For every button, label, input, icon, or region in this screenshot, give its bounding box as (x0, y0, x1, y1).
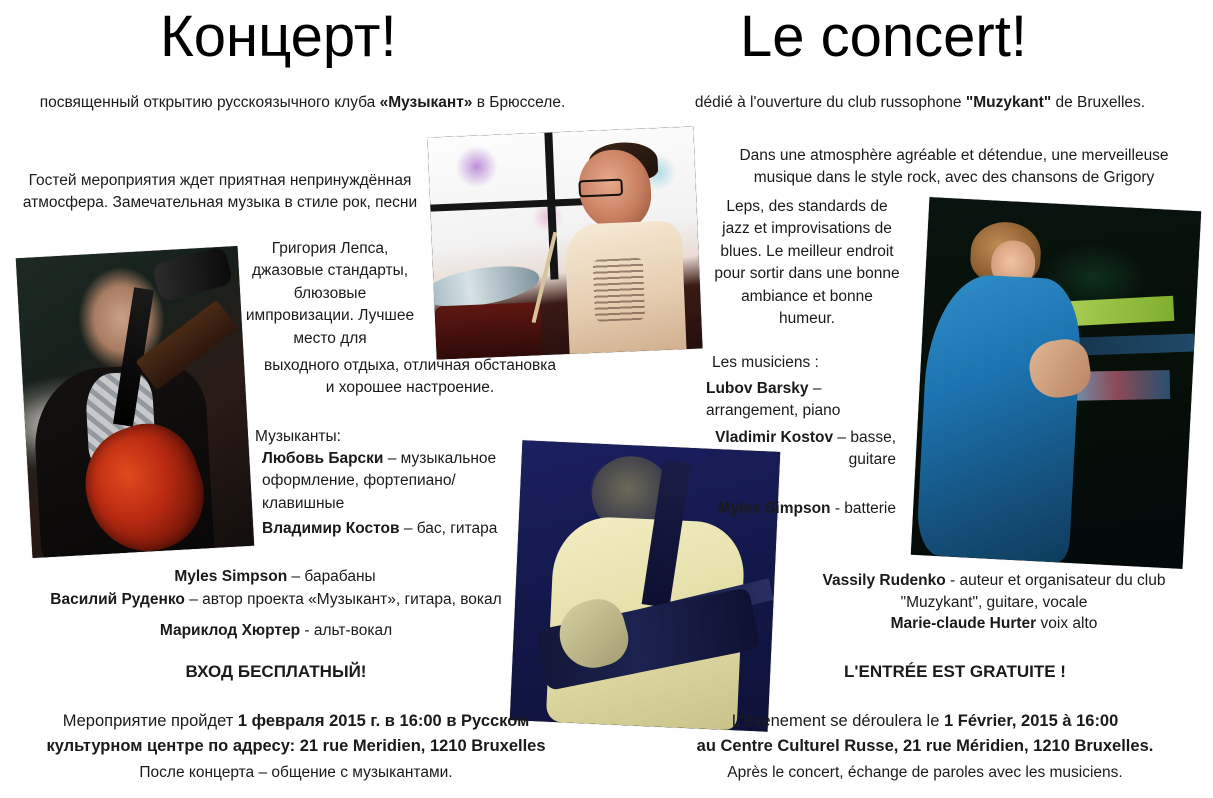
musician-row-ru-2: Владимир Костов – бас, гитара (262, 518, 514, 540)
musician-role-ru-3: – барабаны (287, 568, 375, 585)
free-entry-russian: ВХОД БЕСПЛАТНЫЙ! (6, 660, 546, 685)
free-entry-french: L'ENTRÉE EST GRATUITE ! (700, 660, 1210, 685)
narrow-french: Leps, des standards de jazz et improvisa… (712, 196, 902, 331)
musician-row-fr-2: Vladimir Kostov – basse, guitare (706, 427, 896, 472)
subtitle-russian-plain-1: посвященный открытию русскоязычного клуб… (40, 94, 380, 111)
musician-role-ru-2: – бас, гитара (400, 520, 498, 537)
intro-french: Dans une atmosphère agréable et détendue… (710, 145, 1198, 190)
wide-russian: выходного отдыха, отличная обстановка и … (260, 355, 560, 400)
intro-russian: Гостей мероприятия ждет приятная неприну… (10, 170, 430, 215)
musician-row-ru-4: Василий Руденко – автор проекта «Музыкан… (6, 589, 546, 611)
subtitle-french: dédié à l'ouverture du club russophone "… (640, 92, 1200, 114)
musician-name-fr-4: Vassily Rudenko (823, 572, 946, 589)
musician-row-ru-5: Мариклод Хюртер - альт-вокал (6, 620, 546, 642)
event-line1-fr-plain: L'événement se déroulera le (732, 712, 944, 730)
musician-row-fr-1: Lubov Barsky – arrangement, piano (706, 378, 896, 423)
musicians-heading-russian: Музыканты: (255, 426, 515, 448)
event-line2-ru-bold: культурном центре по адресу: 21 rue Meri… (46, 737, 545, 755)
musician-row-ru-3: Myles Simpson – барабаны (60, 566, 490, 588)
event-line2-russian: культурном центре по адресу: 21 rue Meri… (6, 735, 586, 759)
musician-name-fr-2: Vladimir Kostov (715, 429, 833, 446)
concert-poster: Концерт! посвященный открытию русскоязыч… (0, 0, 1213, 798)
musician-name-ru-1: Любовь Барски (262, 450, 383, 467)
musician-row-ru-1: Любовь Барски – музыкальное оформление, … (262, 448, 514, 515)
musician-role-fr-2: – basse, guitare (833, 429, 896, 468)
musician-name-ru-4: Василий Руденко (50, 591, 185, 608)
musician-name-fr-3: Myles Simpson (718, 500, 831, 517)
musician-row-fr-5: Marie-claude Hurter voix alto (784, 613, 1204, 635)
event-line2-fr-bold: au Centre Culturel Russe, 21 rue Méridie… (697, 737, 1154, 755)
after-concert-french: Après le concert, échange de paroles ave… (640, 762, 1210, 784)
musician-role-ru-5: - альт-вокал (300, 622, 392, 639)
photo-pianist (911, 197, 1201, 569)
event-line1-ru-bold: 1 февраля 2015 г. в 16:00 в Русском (238, 712, 529, 730)
event-line1-fr-bold: 1 Février, 2015 à 16:00 (944, 712, 1118, 730)
musician-name-ru-5: Мариклод Хюртер (160, 622, 300, 639)
event-line1-french: L'événement se déroulera le 1 Février, 2… (640, 710, 1210, 734)
musician-name-fr-5: Marie-claude Hurter (891, 615, 1037, 632)
musicians-heading-french: Les musiciens : (712, 352, 912, 374)
event-line2-french: au Centre Culturel Russe, 21 rue Méridie… (640, 735, 1210, 759)
event-line1-ru-plain: Мероприятие пройдет (63, 712, 238, 730)
subtitle-french-plain-2: de Bruxelles. (1051, 94, 1145, 111)
event-line1-russian: Мероприятие пройдет 1 февраля 2015 г. в … (6, 710, 586, 734)
musician-role-fr-3: - batterie (831, 500, 896, 517)
title-french: Le concert! (740, 8, 1027, 66)
subtitle-french-plain-1: dédié à l'ouverture du club russophone (695, 94, 966, 111)
title-russian: Концерт! (160, 8, 397, 66)
subtitle-french-club: "Muzykant" (966, 94, 1051, 111)
musician-name-ru-3: Myles Simpson (174, 568, 287, 585)
after-concert-russian: После концерта – общение с музыкантами. (6, 762, 586, 784)
photo-drummer (427, 127, 702, 360)
musician-name-ru-2: Владимир Костов (262, 520, 400, 537)
subtitle-russian-club: «Музыкант» (380, 94, 473, 111)
subtitle-russian-plain-2: в Брюсселе. (472, 94, 565, 111)
photo-guitarist-blue (510, 440, 780, 731)
musician-row-fr-3: Myles Simpson - batterie (706, 498, 896, 520)
musician-role-fr-5: voix alto (1036, 615, 1097, 632)
musician-row-fr-4: Vassily Rudenko - auteur et organisateur… (784, 570, 1204, 615)
musician-role-ru-4: – автор проекта «Музыкант», гитара, вока… (185, 591, 502, 608)
narrow-russian: Григория Лепса, джазовые стандарты, блюз… (240, 238, 420, 350)
subtitle-russian: посвященный открытию русскоязычного клуб… (30, 92, 575, 114)
musician-name-fr-1: Lubov Barsky (706, 380, 809, 397)
photo-guitarist-left (16, 246, 254, 558)
